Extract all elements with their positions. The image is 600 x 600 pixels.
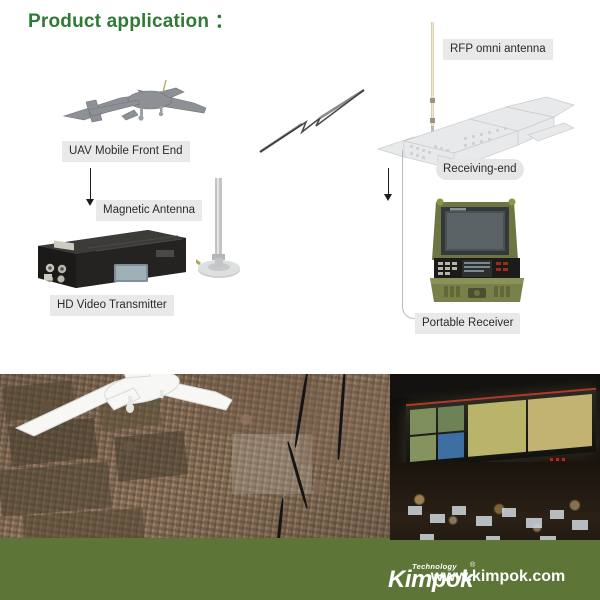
photo-gallery <box>0 374 600 556</box>
page-title: Product application ： <box>28 6 234 33</box>
label-portable-receiver[interactable]: Portable Receiver <box>415 313 520 334</box>
connector-right-vertical <box>388 168 389 195</box>
magnetic-antenna-icon <box>196 178 244 288</box>
lightning-signal-arrow-icon <box>258 88 368 156</box>
down-arrow-icon-right <box>384 194 392 201</box>
connector-left-vertical <box>90 168 91 200</box>
label-receiving-end[interactable]: Receiving-end <box>436 159 524 180</box>
video-wall <box>406 388 596 469</box>
uav-overlay-icon <box>10 374 240 468</box>
down-arrow-icon <box>86 199 94 206</box>
portable-receiver-case-icon <box>428 196 526 308</box>
hd-video-transmitter-icon <box>36 228 188 290</box>
label-magnetic-antenna[interactable]: Magnetic Antenna <box>96 200 202 221</box>
label-rfp-omni-antenna[interactable]: RFP omni antenna <box>443 39 553 60</box>
product-application-slide: Product application ： UAV Mobile Front E… <box>0 0 600 600</box>
label-hd-video-transmitter[interactable]: HD Video Transmitter <box>50 295 174 316</box>
website-url[interactable]: www.kimpok.com <box>431 568 566 586</box>
label-uav-mobile-front-end[interactable]: UAV Mobile Front End <box>62 141 190 162</box>
uav-aircraft-icon <box>62 62 212 142</box>
command-control-center-photo <box>390 374 600 556</box>
